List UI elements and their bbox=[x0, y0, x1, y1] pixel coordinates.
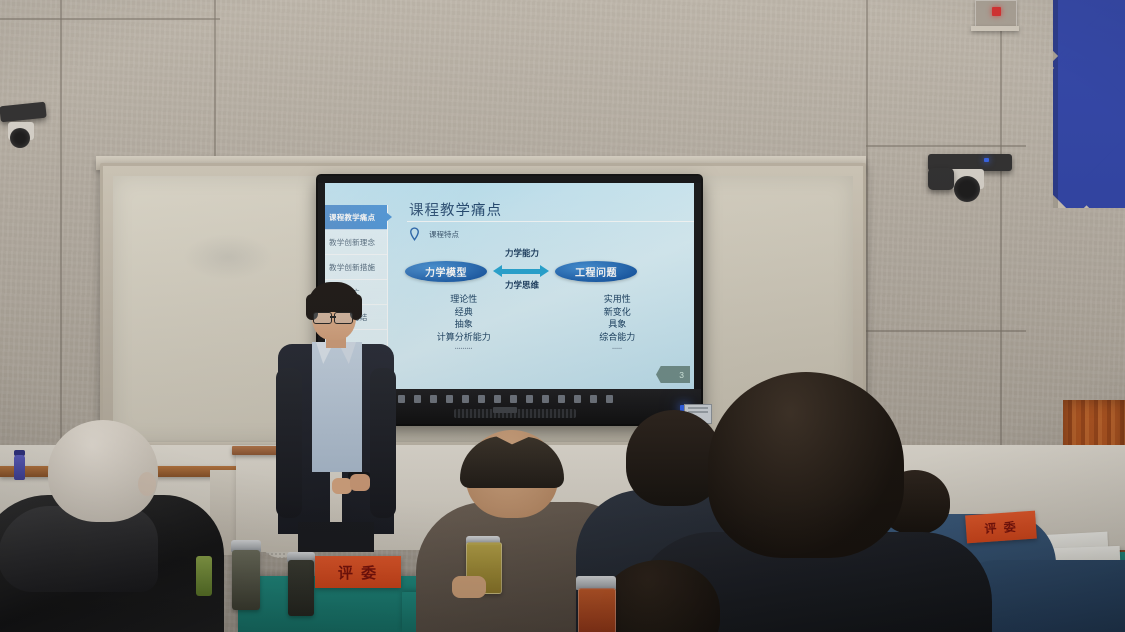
wall-joint bbox=[60, 0, 62, 460]
display-button-icon[interactable] bbox=[606, 395, 613, 403]
slide-nav-label: 课程教学痛点 bbox=[329, 212, 375, 223]
slide-nav-item-0[interactable]: 课程教学痛点 bbox=[325, 205, 387, 230]
sign-shelf bbox=[971, 26, 1019, 31]
audience-head bbox=[600, 560, 720, 632]
diagram-double-arrow-icon bbox=[493, 265, 549, 277]
display-button-icon[interactable] bbox=[574, 395, 581, 403]
slide-nav-label: 教学创新理念 bbox=[329, 237, 375, 248]
thermos-flask bbox=[232, 550, 260, 610]
display-bezel-top bbox=[318, 176, 701, 183]
audience-member bbox=[0, 420, 240, 632]
slide-nav-item-1[interactable]: 教学创新理念 bbox=[325, 230, 387, 255]
display-button-icon[interactable] bbox=[494, 395, 501, 403]
display-button-icon[interactable] bbox=[414, 395, 421, 403]
location-pin-icon bbox=[409, 227, 420, 241]
presenter-arm-left bbox=[276, 368, 302, 518]
display-button-icon[interactable] bbox=[398, 395, 405, 403]
presenter-hand-right bbox=[350, 474, 370, 491]
audience-head bbox=[48, 420, 158, 522]
column-item: 理论性 bbox=[387, 293, 541, 306]
slide-diagram: 力学模型 力学能力 力学思维 工程问题 bbox=[387, 249, 694, 289]
ptz-camera-right bbox=[928, 146, 1016, 204]
column-item: 实用性 bbox=[541, 293, 695, 306]
slide-content: 课程教学痛点 课程特点 力学模型 力学能力 bbox=[387, 183, 694, 389]
slide-title-underline bbox=[407, 221, 694, 222]
presenter-shirt bbox=[312, 342, 362, 472]
ptz-camera-left bbox=[0, 104, 54, 162]
column-item: 计算分析能力 bbox=[387, 331, 541, 344]
slide-title: 课程教学痛点 bbox=[409, 199, 502, 220]
wall-joint bbox=[0, 18, 220, 20]
tea-jar bbox=[578, 588, 616, 632]
slide-section-label: 课程特点 bbox=[429, 229, 459, 240]
glasses-icon bbox=[313, 312, 332, 324]
display-button-icon[interactable] bbox=[446, 395, 453, 403]
diagram-node-left: 力学模型 bbox=[405, 261, 487, 282]
display-button-icon[interactable] bbox=[430, 395, 437, 403]
display-brand-logo bbox=[493, 407, 517, 413]
thermos-flask bbox=[288, 560, 314, 616]
column-caption: ••••• bbox=[541, 346, 695, 351]
emergency-indicator-sign bbox=[975, 0, 1017, 28]
column-caption: ••••••••• bbox=[387, 346, 541, 351]
glasses-bridge bbox=[330, 316, 336, 318]
slide-nav-item-2[interactable]: 教学创新措施 bbox=[325, 255, 387, 280]
display-button-icon[interactable] bbox=[510, 395, 517, 403]
whiteboard-smudge bbox=[183, 234, 273, 280]
presenter-hand-left bbox=[332, 478, 352, 494]
presenter-legs bbox=[298, 522, 374, 552]
display-button-icon[interactable] bbox=[526, 395, 533, 403]
judge-placard-left: 评 委 bbox=[315, 556, 401, 588]
green-bottle bbox=[196, 556, 212, 596]
display-button-icon[interactable] bbox=[478, 395, 485, 403]
diagram-arrow-label-bottom: 力学思维 bbox=[483, 279, 561, 291]
presenter bbox=[276, 282, 398, 552]
column-item: 综合能力 bbox=[541, 331, 695, 344]
judge-placard-right: 评 委 bbox=[965, 511, 1037, 544]
wall-joint bbox=[866, 330, 1026, 332]
slide-column-right: 实用性 新变化 具象 综合能力 ••••• bbox=[541, 293, 695, 351]
column-item: 新变化 bbox=[541, 306, 695, 319]
diagram-node-right: 工程问题 bbox=[555, 261, 637, 282]
column-item: 经典 bbox=[387, 306, 541, 319]
wall-joint bbox=[1000, 0, 1002, 470]
column-item: 具象 bbox=[541, 318, 695, 331]
slide-nav-label: 教学创新措施 bbox=[329, 262, 375, 273]
diagram-arrow-label-top: 力学能力 bbox=[483, 247, 561, 259]
slide-columns: 理论性 经典 抽象 计算分析能力 ••••••••• 实用性 新变化 具象 综合… bbox=[387, 293, 694, 351]
audience-head bbox=[708, 372, 904, 558]
audience-hand bbox=[452, 576, 486, 598]
slide-column-left: 理论性 经典 抽象 计算分析能力 ••••••••• bbox=[387, 293, 541, 351]
glasses-icon bbox=[334, 312, 353, 324]
display-button-icon[interactable] bbox=[462, 395, 469, 403]
slide-section-row: 课程特点 bbox=[409, 227, 459, 241]
audience-member-foreground bbox=[600, 560, 740, 632]
presenter-arm-right bbox=[370, 368, 396, 518]
display-control-buttons[interactable] bbox=[398, 395, 613, 403]
lecture-hall-photo: 课程教学痛点 教学创新理念 教学创新措施 应用推广 效果与总结 课程教学痛点 bbox=[0, 0, 1125, 632]
column-item: 抽象 bbox=[387, 318, 541, 331]
alarm-led-icon bbox=[992, 7, 1001, 16]
blue-diamond-acoustic-panel bbox=[1053, 0, 1125, 208]
display-button-icon[interactable] bbox=[542, 395, 549, 403]
display-button-icon[interactable] bbox=[590, 395, 597, 403]
display-button-icon[interactable] bbox=[558, 395, 565, 403]
audience-ear bbox=[138, 472, 156, 496]
